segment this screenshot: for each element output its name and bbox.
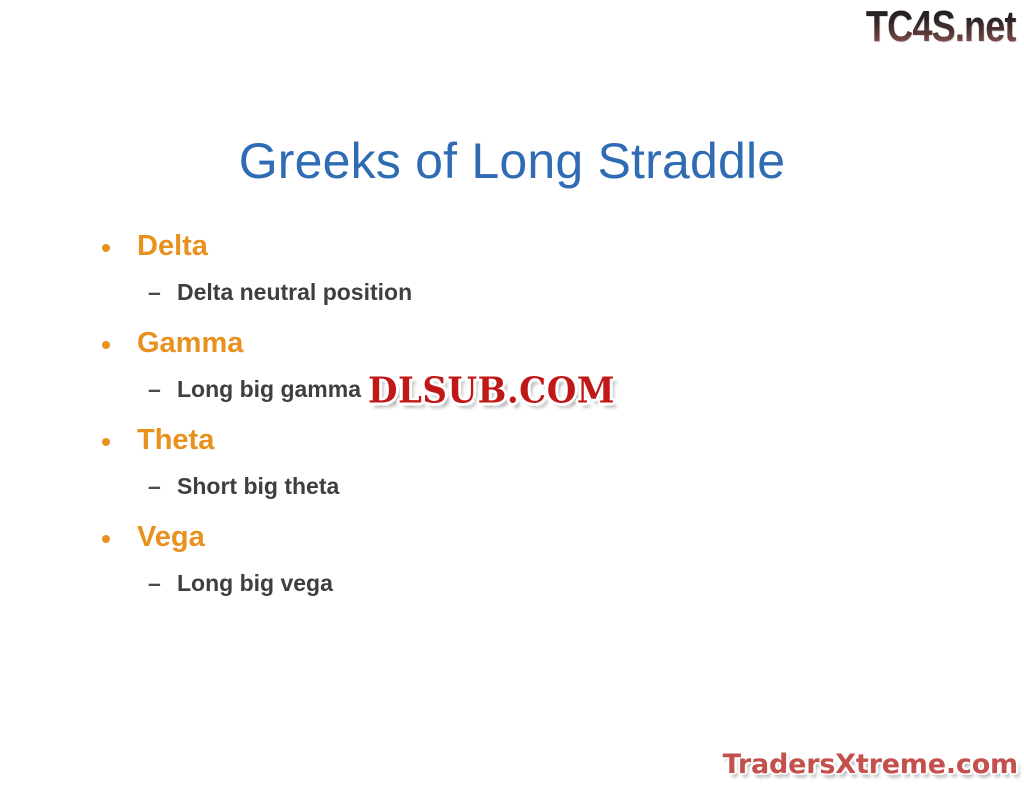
bullet-dot-icon (102, 244, 110, 252)
dash-bullet-icon: – (148, 468, 161, 504)
list-item-level2-label: Delta neutral position (177, 274, 412, 310)
list-item-level1-label: Gamma (137, 323, 243, 363)
bullet-group-vega: Vega – Long big vega (0, 517, 1024, 614)
list-item-level2-label: Short big theta (177, 468, 339, 504)
list-item-level1-label: Delta (137, 226, 208, 266)
list-item-level1-label: Vega (137, 517, 205, 557)
list-item-level2-label: Long big vega (177, 565, 333, 601)
bullet-list: Delta – Delta neutral position Gamma – L… (0, 226, 1024, 614)
presentation-slide: TC4S.net Greeks of Long Straddle Delta –… (0, 0, 1024, 791)
bullet-dot-icon (102, 535, 110, 543)
dash-bullet-icon: – (148, 565, 161, 601)
dlsub-watermark: DLSUB.COM (368, 372, 615, 410)
bullet-dot-icon (102, 438, 110, 446)
list-item-level2: – Short big theta (0, 468, 1024, 517)
list-item-level1: Theta (0, 420, 1024, 468)
dash-bullet-icon: – (148, 274, 161, 310)
bullet-group-theta: Theta – Short big theta (0, 420, 1024, 517)
bullet-group-delta: Delta – Delta neutral position (0, 226, 1024, 323)
dash-bullet-icon: – (148, 371, 161, 407)
list-item-level2: – Long big vega (0, 565, 1024, 614)
list-item-level2: – Delta neutral position (0, 274, 1024, 323)
page-title: Greeks of Long Straddle (0, 132, 1024, 190)
list-item-level1-label: Theta (137, 420, 214, 460)
tradersxtreme-watermark: TradersXtreme.com (723, 749, 1018, 781)
list-item-level1: Delta (0, 226, 1024, 274)
list-item-level1: Vega (0, 517, 1024, 565)
list-item-level2-label: Long big gamma (177, 371, 361, 407)
list-item-level1: Gamma (0, 323, 1024, 371)
bullet-dot-icon (102, 341, 110, 349)
tc4s-logo: TC4S.net (866, 2, 1016, 52)
